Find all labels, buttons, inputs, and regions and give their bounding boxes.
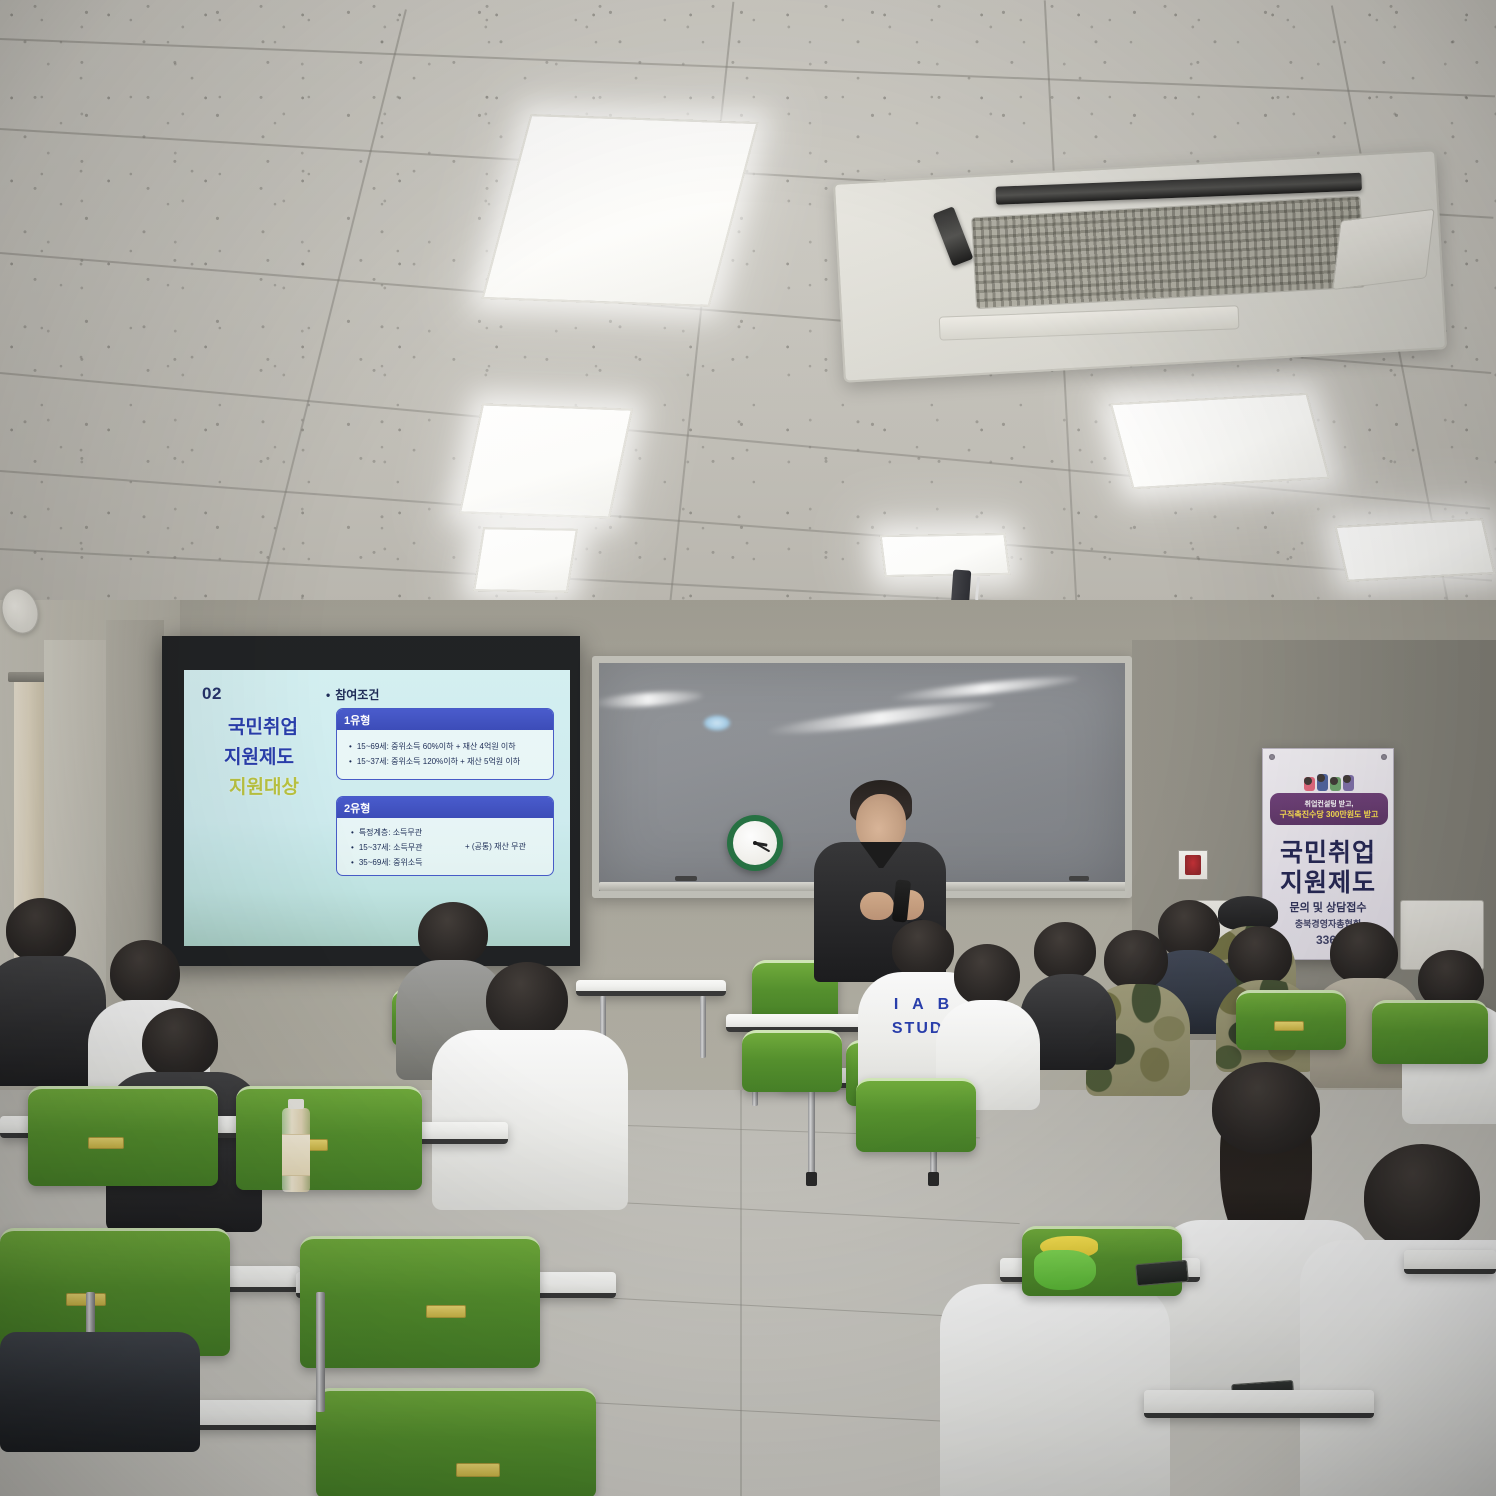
wall-clock	[727, 815, 783, 871]
attendee-head	[110, 940, 180, 1006]
attendee-head	[1364, 1144, 1480, 1250]
ceiling-light-panel	[459, 403, 633, 518]
banner-figure	[1330, 777, 1340, 791]
slide-box-header: 2유형	[337, 797, 553, 818]
banner-ribbon-line1: 취업컨설팅 받고,	[1305, 799, 1354, 809]
chair-label	[426, 1305, 466, 1318]
attendee-head	[486, 962, 568, 1038]
beverage-bottle	[282, 1108, 310, 1192]
desk-leg	[808, 1088, 815, 1174]
banner-title-line2: 지원제도	[1263, 863, 1393, 899]
banner-figure	[1317, 774, 1327, 791]
air-conditioner-grille	[971, 196, 1366, 310]
attendee	[1320, 1144, 1496, 1496]
desk-leg	[700, 996, 706, 1058]
attendee-torso	[1300, 1240, 1496, 1496]
banner-figure	[1343, 775, 1353, 791]
attendee-head	[142, 1008, 218, 1078]
desk-leg-foot	[806, 1172, 817, 1186]
banner-grommet	[1381, 754, 1387, 760]
plush-body	[1034, 1250, 1096, 1290]
attendee-head	[1104, 930, 1168, 990]
attendee-head	[6, 898, 76, 962]
slide-list-item: 15~37세: 중위소득 120%이하 + 재산 5억원 이하	[349, 756, 520, 767]
slide-list-item: 특정계층: 소득무관	[351, 827, 422, 838]
attendee-torso	[940, 1284, 1170, 1496]
slide-box-type-1: 1유형 15~69세: 중위소득 60%이하 + 재산 4억원 이하 15~37…	[336, 708, 554, 780]
attendee	[938, 944, 1034, 1094]
attendee	[1024, 922, 1110, 1042]
desk	[1404, 1250, 1496, 1274]
ceiling-light-panel	[473, 527, 578, 593]
attendee	[440, 962, 620, 1192]
presenter-hand-left	[860, 892, 894, 920]
chair	[1372, 1000, 1488, 1064]
ceiling-light-panel	[1334, 518, 1495, 582]
banner-grommet	[1269, 754, 1275, 760]
bottle-cap	[288, 1099, 304, 1109]
chair	[1236, 990, 1346, 1050]
attendee-head	[1330, 922, 1398, 984]
chair	[28, 1086, 218, 1186]
air-conditioner-flap	[939, 305, 1240, 340]
clock-center	[753, 841, 757, 845]
slide-bullet-heading: 참여조건	[326, 686, 379, 703]
ceiling-light-panel	[481, 114, 758, 307]
slide-box-note: + (공통) 재산 무관	[465, 841, 526, 852]
attendee	[940, 1284, 1170, 1496]
fire-extinguisher-sign	[1178, 850, 1208, 880]
whiteboard-marker	[1069, 876, 1089, 881]
slide-title-line-1: 국민취업	[228, 712, 298, 739]
chair	[856, 1078, 976, 1152]
air-conditioner-unit	[833, 149, 1447, 382]
attendee-head	[1034, 922, 1096, 980]
slide-list-item: 15~69세: 중위소득 60%이하 + 재산 4억원 이하	[349, 741, 516, 752]
chair	[742, 1030, 842, 1092]
ceiling-light-panel	[880, 533, 1011, 577]
whiteboard-smudge	[593, 689, 704, 710]
slide-title-line-3: 지원대상	[229, 772, 299, 799]
whiteboard-marker	[675, 876, 697, 881]
attendee-head	[1212, 1062, 1320, 1154]
attendee-torso	[432, 1030, 628, 1210]
ceiling-light-panel	[1110, 393, 1330, 489]
banner-ribbon-line2: 구직촉진수당 300만원도 받고	[1280, 809, 1379, 820]
slide-box-header: 1유형	[337, 709, 553, 730]
chair	[300, 1236, 540, 1368]
ceiling	[0, 0, 1496, 660]
desk	[1144, 1390, 1374, 1418]
banner-figure	[1304, 777, 1314, 791]
attendee	[0, 898, 96, 1048]
banner-illustration	[1263, 765, 1393, 791]
slide-number: 02	[202, 684, 222, 704]
chair-label	[456, 1463, 500, 1477]
extinguisher-icon	[1185, 855, 1202, 875]
whiteboard-smudge	[889, 673, 1079, 704]
whiteboard-smudge	[765, 697, 995, 739]
desk-leg	[316, 1292, 325, 1412]
clock-face	[733, 821, 777, 865]
slide-box-type-2: 2유형 특정계층: 소득무관 15~37세: 소득무관 35~69세: 중위소득…	[336, 796, 554, 876]
chair-label	[88, 1137, 124, 1149]
chair-label	[1274, 1021, 1304, 1031]
attendee-head	[954, 944, 1020, 1006]
bottle-label	[282, 1134, 310, 1176]
backpack	[0, 1332, 200, 1452]
air-conditioner-louver	[933, 206, 974, 266]
classroom-photo: 02 국민취업 지원제도 지원대상 참여조건 1유형 15~69세: 중위소득 …	[0, 0, 1496, 1496]
slide-list-item: 35~69세: 중위소득	[351, 857, 423, 868]
whiteboard-blue-mark	[703, 715, 731, 731]
attendee-head	[418, 902, 488, 966]
floor-seam	[740, 1090, 742, 1496]
projection-screen-frame: 02 국민취업 지원제도 지원대상 참여조건 1유형 15~69세: 중위소득 …	[162, 636, 580, 966]
plush-toy	[1032, 1236, 1112, 1292]
slide-title-line-2: 지원제도	[224, 742, 294, 769]
banner-ribbon: 취업컨설팅 받고, 구직촉진수당 300만원도 받고	[1270, 793, 1388, 825]
air-conditioner-flap	[1332, 209, 1434, 290]
attendee-head	[1228, 926, 1292, 986]
smartphone	[1135, 1260, 1189, 1286]
chair	[316, 1388, 596, 1496]
slide-list-item: 15~37세: 소득무관	[351, 842, 423, 853]
presentation-slide: 02 국민취업 지원제도 지원대상 참여조건 1유형 15~69세: 중위소득 …	[184, 670, 570, 946]
chair	[236, 1086, 422, 1190]
desk-leg-foot	[928, 1172, 939, 1186]
